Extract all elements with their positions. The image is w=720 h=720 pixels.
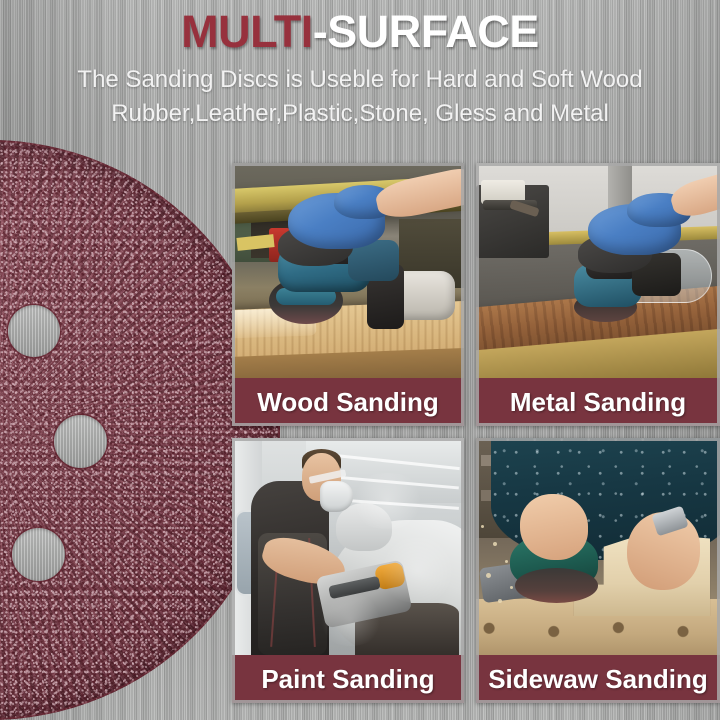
disc-hole [8, 305, 60, 357]
header: MULTI-SURFACE The Sanding Discs is Usebl… [0, 8, 720, 130]
disc-hole [54, 415, 107, 468]
panel-caption-text: Paint Sanding [261, 664, 434, 695]
page-title-rest: -SURFACE [313, 6, 539, 57]
page-title: MULTI-SURFACE [0, 8, 720, 55]
paint-sanding-photo [232, 438, 464, 655]
wood-sanding-photo [232, 163, 464, 378]
application-panel-grid: Wood Sanding [232, 163, 720, 703]
panel-caption-text: Metal Sanding [510, 387, 686, 418]
panel-caption-sideway: Sidewaw Sanding [476, 655, 720, 703]
panel-caption-paint: Paint Sanding [232, 655, 464, 703]
panel-caption-text: Wood Sanding [257, 387, 439, 418]
disc-hole [12, 528, 65, 581]
panel-sideway[interactable]: Sidewaw Sanding [476, 438, 720, 703]
panel-caption-wood: Wood Sanding [232, 378, 464, 426]
metal-sanding-photo [476, 163, 720, 378]
panel-caption-metal: Metal Sanding [476, 378, 720, 426]
panel-paint[interactable]: Paint Sanding [232, 438, 464, 703]
panel-caption-text: Sidewaw Sanding [488, 664, 708, 695]
panel-wood[interactable]: Wood Sanding [232, 163, 464, 426]
panel-metal[interactable]: Metal Sanding [476, 163, 720, 426]
subtitle-line-1: The Sanding Discs is Useble for Hard and… [0, 64, 720, 96]
sideway-sanding-photo [476, 438, 720, 655]
page-title-highlight: MULTI [181, 6, 313, 57]
subtitle-line-2: Rubber,Leather,Plastic,Stone, Gless and … [0, 98, 720, 130]
product-infographic: MULTI-SURFACE The Sanding Discs is Usebl… [0, 0, 720, 720]
